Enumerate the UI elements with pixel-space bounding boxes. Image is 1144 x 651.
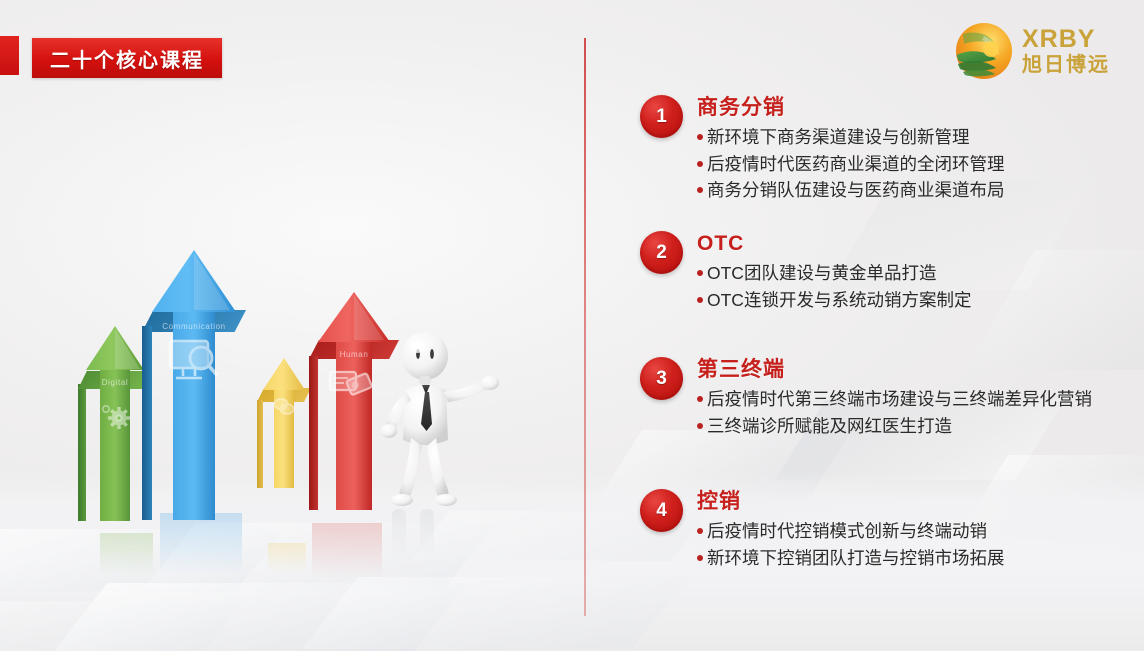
arrow-digital: Digital: [86, 326, 144, 521]
white-mannequin-with-tie: [378, 328, 508, 518]
arrow-human-label: Human: [340, 350, 369, 359]
bullet-dot-icon: [697, 134, 703, 140]
arrow-digital-label: Digital: [102, 378, 128, 387]
bullet-dot-icon: [697, 161, 703, 167]
list-item: 新环境下控销团队打造与控销市场拓展: [697, 545, 1005, 572]
bullet-text: 后疫情时代第三终端市场建设与三终端差异化营销: [707, 386, 1092, 413]
left-accent-block: [0, 36, 19, 75]
bullet-dot-icon: [697, 187, 703, 193]
section-2-title: OTC: [697, 232, 971, 255]
list-item: 后疫情时代控销模式创新与终端动销: [697, 518, 1005, 545]
section-4-number: 4: [640, 489, 683, 532]
coins-icon: [272, 396, 296, 423]
section-2: 2 OTC OTC团队建设与黄金单品打造 OTC连锁开发与系统动销方案制定: [640, 231, 971, 313]
list-item: 后疫情时代第三终端市场建设与三终端差异化营销: [697, 386, 1092, 413]
section-2-number: 2: [640, 231, 683, 274]
section-1-title: 商务分销: [697, 96, 1005, 119]
bullet-text: 后疫情时代医药商业渠道的全闭环管理: [707, 151, 1005, 178]
arrow-finance: [263, 358, 305, 488]
bullet-text: 商务分销队伍建设与医药商业渠道布局: [707, 177, 1005, 204]
section-1-bullets: 新环境下商务渠道建设与创新管理 后疫情时代医药商业渠道的全闭环管理 商务分销队伍…: [697, 124, 1005, 204]
bullet-text: OTC连锁开发与系统动销方案制定: [707, 287, 971, 314]
section-3: 3 第三终端 后疫情时代第三终端市场建设与三终端差异化营销 三终端诊所赋能及网红…: [640, 357, 1092, 439]
growth-arrows-illustration: Digital: [60, 250, 540, 550]
section-1-number: 1: [640, 95, 683, 138]
list-item: 后疫情时代医药商业渠道的全闭环管理: [697, 151, 1005, 178]
xrby-sun-wave-emblem-icon: [955, 22, 1013, 80]
bullet-text: 三终端诊所赋能及网红医生打造: [707, 413, 952, 440]
logo-chinese-name: 旭日博远: [1022, 55, 1110, 75]
bullet-text: 后疫情时代控销模式创新与终端动销: [707, 518, 987, 545]
section-4: 4 控销 后疫情时代控销模式创新与终端动销 新环境下控销团队打造与控销市场拓展: [640, 489, 1005, 571]
bullet-dot-icon: [697, 423, 703, 429]
logo-wordmark: XRBY 旭日博远: [1022, 27, 1110, 75]
arrow-human-side: [309, 356, 318, 510]
bullet-dot-icon: [697, 555, 703, 561]
list-item: 新环境下商务渠道建设与创新管理: [697, 124, 1005, 151]
section-2-bullets: OTC团队建设与黄金单品打造 OTC连锁开发与系统动销方案制定: [697, 260, 971, 313]
list-item: OTC团队建设与黄金单品打造: [697, 260, 971, 287]
section-4-bullets: 后疫情时代控销模式创新与终端动销 新环境下控销团队打造与控销市场拓展: [697, 518, 1005, 571]
section-3-bullets: 后疫情时代第三终端市场建设与三终端差异化营销 三终端诊所赋能及网红医生打造: [697, 386, 1092, 439]
bullet-dot-icon: [697, 396, 703, 402]
bullet-dot-icon: [697, 528, 703, 534]
list-item: 商务分销队伍建设与医药商业渠道布局: [697, 177, 1005, 204]
bullet-text: OTC团队建设与黄金单品打造: [707, 260, 936, 287]
list-item: 三终端诊所赋能及网红医生打造: [697, 413, 1092, 440]
bullet-text: 新环境下控销团队打造与控销市场拓展: [707, 545, 1005, 572]
id-card-icon: [328, 366, 374, 405]
bullet-dot-icon: [697, 270, 703, 276]
arrow-digital-side: [78, 384, 86, 521]
section-1: 1 商务分销 新环境下商务渠道建设与创新管理 后疫情时代医药商业渠道的全闭环管理…: [640, 95, 1005, 204]
bullet-text: 新环境下商务渠道建设与创新管理: [707, 124, 970, 151]
bullet-dot-icon: [697, 297, 703, 303]
arrow-communication-side: [142, 326, 152, 520]
section-4-title: 控销: [697, 490, 1005, 513]
gear-icon: [98, 398, 132, 437]
section-3-title: 第三终端: [697, 358, 1092, 381]
section-3-number: 3: [640, 357, 683, 400]
arrow-communication-label: Communication: [162, 322, 225, 331]
slide-canvas: 二十个核心课程: [0, 0, 1144, 651]
page-title: 二十个核心课程: [32, 38, 222, 78]
arrow-communication: Communication: [152, 250, 236, 520]
page-title-label: 二十个核心课程: [50, 44, 204, 73]
logo-english-name: XRBY: [1022, 27, 1110, 52]
vertical-divider: [584, 38, 586, 616]
brand-logo: XRBY 旭日博远: [955, 22, 1110, 80]
list-item: OTC连锁开发与系统动销方案制定: [697, 287, 971, 314]
monitor-magnifier-icon: [167, 338, 221, 391]
